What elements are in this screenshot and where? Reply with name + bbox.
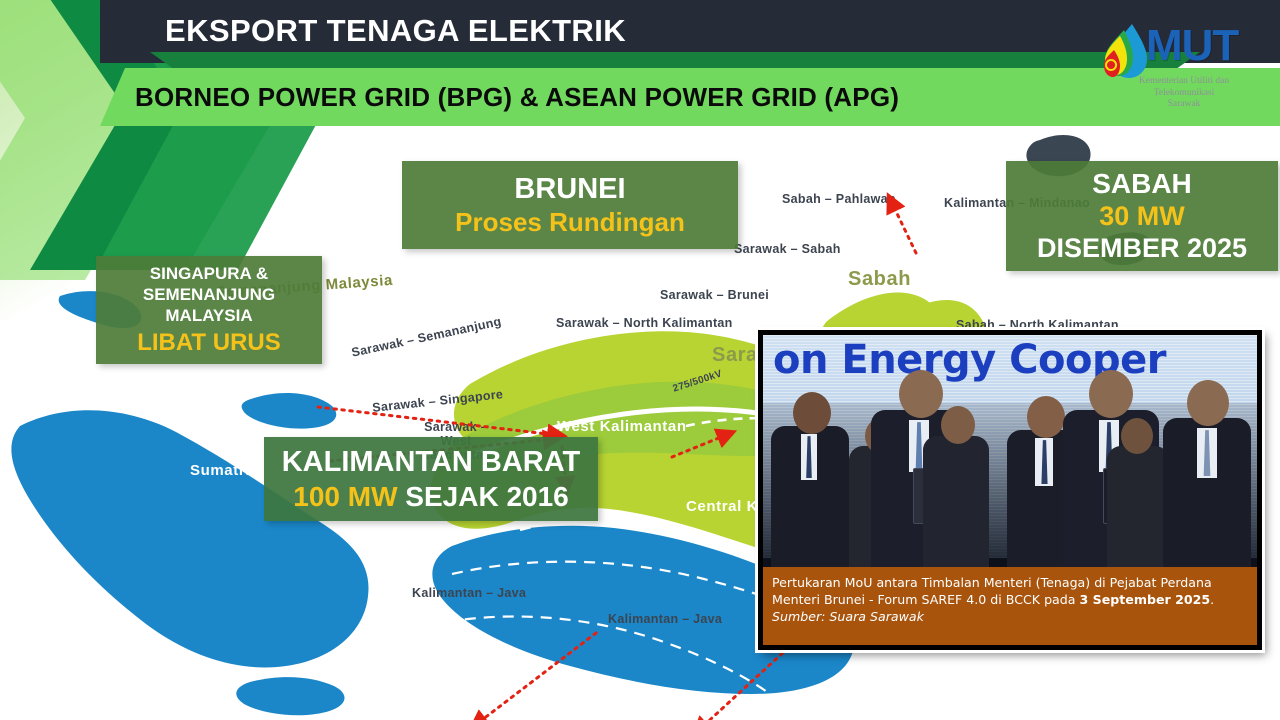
link-label-sarawak-brunei: Sarawak – Brunei [660,288,769,302]
link-label-sarawak-sabah: Sarawak – Sabah [734,242,841,256]
callout-singapore-line2: SEMENANJUNG [143,284,275,305]
callout-kalimantan-barat[interactable]: KALIMANTAN BARAT 100 MW SEJAK 2016 [264,437,598,521]
delegate-head [793,392,831,434]
link-label-kalimantan-java-2: Kalimantan – Java [608,612,722,626]
callout-singapore-highlight: LIBAT URUS [137,328,281,358]
event-photo-card[interactable]: on Energy Cooper ♛ [758,330,1262,650]
page-title: EKSPORT TENAGA ELEKTRIK [165,7,1065,57]
logo-subtitle-line2: Telekomunikasi [1100,88,1268,100]
callout-sabah-capacity: 30 MW [1099,200,1185,232]
callout-singapore-line1: SINGAPURA & [150,263,268,284]
page-subtitle: BORNEO POWER GRID (BPG) & ASEAN POWER GR… [135,76,1135,120]
event-photo-image: on Energy Cooper ♛ [763,335,1257,645]
delegate [923,436,989,586]
callout-singapore-semenanjung[interactable]: SINGAPURA & SEMENANJUNG MALAYSIA LIBAT U… [96,256,322,364]
delegate-head [899,370,943,418]
callout-singapore-line3: MALAYSIA [165,305,252,326]
logo-wordmark: MUT [1146,22,1238,70]
caption-source: Sumber: Suara Sarawak [772,609,924,624]
callout-kalbar-detail: 100 MW SEJAK 2016 [293,480,568,514]
caption-period: . [1210,592,1214,607]
region-label-west-kalimantan: West Kalimantan [557,418,687,435]
delegate-head [1089,370,1133,418]
callout-brunei-status: Proses Rundingan [455,206,685,238]
delegate [1163,418,1251,586]
logo-subtitle-line1: Kementerian Utiliti dan [1100,76,1268,88]
delegate-head [1187,380,1229,426]
callout-kalbar-since: SEJAK 2016 [405,481,568,512]
link-label-kalimantan-java-1: Kalimantan – Java [412,586,526,600]
delegate [771,426,849,586]
delegate-head [941,406,975,444]
photo-caption: Pertukaran MoU antara Timbalan Menteri (… [763,567,1257,645]
slide-root: Semananjung Malaysia Sabah Sarawak West … [0,0,1280,720]
region-label-sumatra: Sumatra [190,462,254,479]
logo-subtitle-line3: Sarawak [1100,99,1268,111]
callout-brunei[interactable]: BRUNEI Proses Rundingan [402,161,738,249]
callout-sabah-title: SABAH [1092,168,1192,200]
callout-brunei-title: BRUNEI [514,172,625,206]
delegate [1107,446,1169,586]
logo-subtitle: Kementerian Utiliti dan Telekomunikasi S… [1100,76,1268,111]
callout-sabah[interactable]: SABAH 30 MW DISEMBER 2025 [1006,161,1278,271]
callout-kalbar-capacity: 100 MW [293,481,397,512]
delegate-head [1027,396,1065,438]
flame-droplet-icon [1102,22,1148,80]
link-label-sarawak-north-kalimantan: Sarawak – North Kalimantan [556,316,733,330]
led-screen-text: on Energy Cooper [773,337,1257,383]
region-label-java: Java [588,686,624,703]
callout-sabah-date: DISEMBER 2025 [1037,232,1247,264]
callout-kalbar-title: KALIMANTAN BARAT [282,445,581,480]
link-label-sabah-pahlawan: Sabah – Pahlawan [782,192,896,206]
region-label-sabah: Sabah [848,268,911,291]
delegate-head [1121,418,1153,454]
caption-date: 3 September 2025 [1080,592,1211,607]
mut-logo: MUT Kementerian Utiliti dan Telekomunika… [1098,16,1270,122]
